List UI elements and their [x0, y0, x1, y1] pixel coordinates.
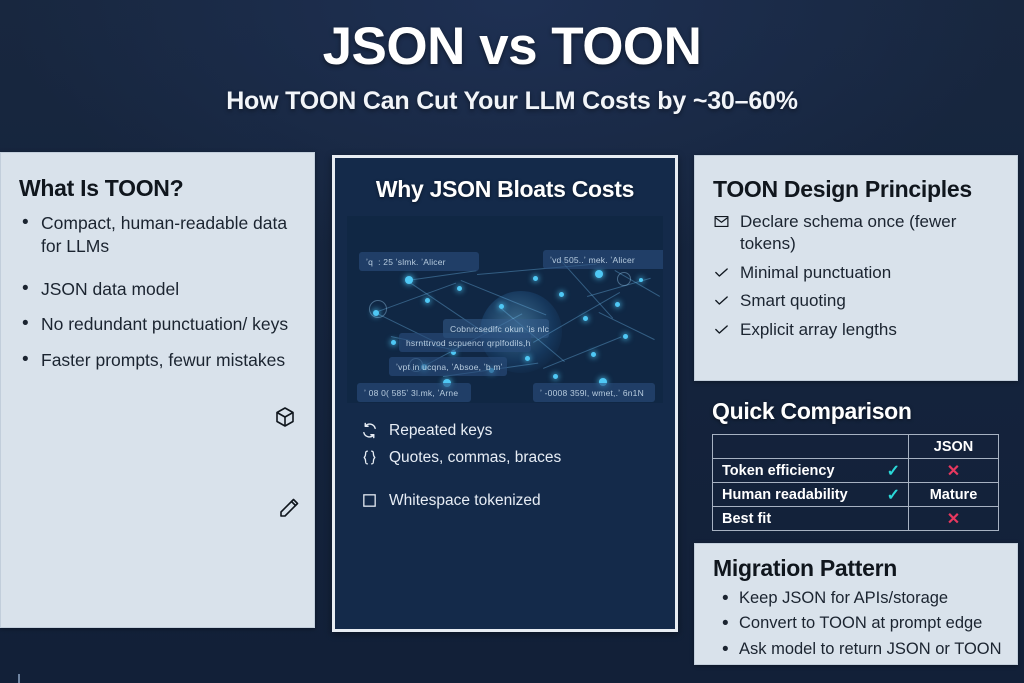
- json-value: Mature: [909, 483, 999, 507]
- list-item: JSON data model: [19, 278, 298, 301]
- comparison-table: JSON Token efficiency ✓ ✕: [712, 434, 999, 531]
- json-cross-icon: ✕: [947, 463, 960, 480]
- list-item: Declare schema once (fewer tokens): [713, 211, 1003, 255]
- list-item: No redundant punctuation/ keys: [19, 313, 298, 336]
- toon-check-icon: ✓: [887, 461, 900, 481]
- what-is-toon-panel: What Is TOON? Compact, human-readable da…: [0, 152, 315, 628]
- list-item: Quotes, commas, braces: [361, 448, 675, 469]
- braces-icon: [361, 449, 378, 466]
- list-item-label: Whitespace tokenized: [389, 491, 541, 512]
- list-item-label: Explicit array lengths: [740, 319, 897, 341]
- infographic-slide: JSON vs TOON How TOON Can Cut Your LLM C…: [0, 0, 1024, 683]
- chip-label: hsrnttrvod scpuencr qrplfodils,hzpnd.: [399, 333, 531, 352]
- table-row: Token efficiency ✓ ✕: [713, 459, 999, 483]
- column-header-json: JSON: [909, 435, 999, 459]
- envelope-check-icon: [713, 213, 730, 230]
- chip-label: ʼq : 25 ʼslmk. ʼAlicer: [359, 252, 479, 271]
- list-item: Repeated keys: [361, 421, 675, 442]
- chip-label: ʼvpt in ucqna, ʼAbsoe, ʼb mʼ: [389, 357, 507, 376]
- list-item-label: Repeated keys: [389, 421, 492, 442]
- list-item: Minimal punctuation: [713, 262, 1003, 284]
- pencil-icon: [277, 496, 301, 520]
- row-label: Best fit: [722, 511, 771, 527]
- box-icon: [273, 405, 297, 429]
- quick-comparison-block: Quick Comparison JSON Token efficiency ✓: [694, 389, 1018, 535]
- header: JSON vs TOON How TOON Can Cut Your LLM C…: [0, 0, 1024, 150]
- chip-label: ʼ -0008 359l, wmet,.ʼ 6n1N: [533, 383, 655, 402]
- toon-check-icon: ✓: [887, 485, 900, 505]
- list-item: Convert to TOON at prompt edge: [719, 613, 1005, 634]
- list-item: Explicit array lengths: [713, 319, 1003, 341]
- refresh-icon: [361, 422, 378, 439]
- design-principles-list: Declare schema once (fewer tokens) Minim…: [713, 211, 1003, 341]
- page-subtitle: How TOON Can Cut Your LLM Costs by ~30–6…: [0, 87, 1024, 116]
- list-item-label: Smart quoting: [740, 290, 846, 312]
- check-icon: [713, 321, 730, 338]
- why-json-bloats-panel: Why JSON Bloats Costs: [332, 155, 678, 632]
- list-item: Keep JSON for APIs/storage: [719, 588, 1005, 609]
- column-header-feature: [713, 435, 909, 459]
- page-title: JSON vs TOON: [0, 19, 1024, 75]
- list-item: Compact, human-readable data for LLMs: [19, 212, 298, 258]
- table-header-row: JSON: [713, 435, 999, 459]
- migration-pattern-heading: Migration Pattern: [713, 555, 1017, 582]
- table-row: Best fit ✕: [713, 507, 999, 531]
- design-principles-heading: TOON Design Principles: [713, 176, 1017, 203]
- list-item-label: Declare schema once (fewer tokens): [740, 211, 1003, 255]
- list-item: Faster prompts, fewur mistakes: [19, 349, 298, 372]
- check-icon: [713, 292, 730, 309]
- toon-design-principles-panel: TOON Design Principles Declare schema on…: [694, 155, 1018, 381]
- network-graph-illustration: ʼq : 25 ʼslmk. ʼAlicer ʼvd 505..ʼ mek. ʼ…: [347, 216, 663, 403]
- check-icon: [713, 264, 730, 281]
- list-item: Whitespace tokenized: [361, 491, 675, 512]
- square-icon: [361, 492, 378, 509]
- quick-comparison-heading: Quick Comparison: [712, 398, 1018, 425]
- stray-mark: [18, 674, 20, 683]
- chip-label: ʼvd 505..ʼ mek. ʼAlicer: [543, 250, 663, 269]
- migration-pattern-list: Keep JSON for APIs/storage Convert to TO…: [719, 588, 1005, 660]
- what-is-toon-list: Compact, human-readable data for LLMs JS…: [19, 212, 298, 372]
- table-row: Human readability ✓ Mature: [713, 483, 999, 507]
- chip-label: ʼ 08 0( 585ʼ 3l.mk, ʼArne: [357, 383, 471, 402]
- json-bloat-list: Repeated keys Quotes, commas, braces: [361, 421, 675, 512]
- what-is-toon-heading: What Is TOON?: [19, 175, 314, 202]
- list-item: Ask model to return JSON or TOON: [719, 639, 1005, 660]
- row-label: Human readability: [722, 487, 848, 503]
- migration-pattern-panel: Migration Pattern Keep JSON for APIs/sto…: [694, 543, 1018, 665]
- why-json-bloats-heading: Why JSON Bloats Costs: [335, 176, 675, 203]
- list-item-label: Quotes, commas, braces: [389, 448, 561, 469]
- row-label: Token efficiency: [722, 463, 835, 479]
- list-item-label: Minimal punctuation: [740, 262, 891, 284]
- json-cross-icon: ✕: [947, 511, 960, 528]
- list-item: Smart quoting: [713, 290, 1003, 312]
